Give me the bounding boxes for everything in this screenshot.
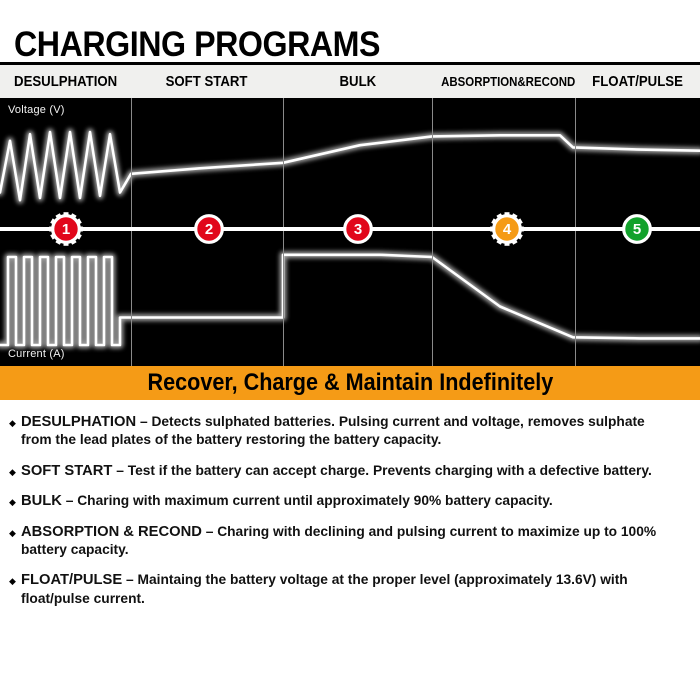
stage-label-text: DESULPHATION	[14, 65, 117, 98]
title-bar: CHARGING PROGRAMS	[0, 0, 700, 62]
bullet-term: ABSORPTION & RECOND	[21, 523, 202, 540]
charging-stage-chart: Voltage (V) Current (A) 12345	[0, 98, 700, 366]
bullet-text: DESULPHATION – Detects sulphated batteri…	[21, 412, 670, 450]
stage-description-list: ◆DESULPHATION – Detects sulphated batter…	[0, 400, 700, 608]
bullet-dot-icon: ◆	[8, 577, 17, 586]
bullet-item-1: ◆SOFT START – Test if the battery can ac…	[8, 461, 690, 480]
bullet-term: SOFT START	[21, 462, 112, 479]
stage-label-text: ABSORPTION&RECOND	[441, 65, 575, 98]
bullet-dot-icon: ◆	[8, 529, 17, 538]
badge-shape-icon	[620, 212, 654, 246]
stage-header-band: DESULPHATIONSOFT STARTBULKABSORPTION&REC…	[0, 62, 700, 98]
stage-divider-0	[131, 98, 132, 366]
voltage-axis-label: Voltage (V)	[8, 104, 65, 116]
page-title: CHARGING PROGRAMS	[14, 27, 645, 62]
bullet-text: FLOAT/PULSE – Maintaing the battery volt…	[21, 570, 670, 608]
bullet-term: BULK	[21, 492, 62, 509]
tagline-banner: Recover, Charge & Maintain Indefinitely	[0, 366, 700, 400]
bullet-item-0: ◆DESULPHATION – Detects sulphated batter…	[8, 412, 690, 450]
bullet-item-4: ◆FLOAT/PULSE – Maintaing the battery vol…	[8, 570, 690, 608]
tagline-text: Recover, Charge & Maintain Indefinitely	[147, 369, 553, 397]
stage-label-text: SOFT START	[166, 65, 248, 98]
stage-divider-3	[575, 98, 576, 366]
bullet-description: – Test if the battery can accept charge.…	[112, 463, 651, 479]
stage-divider-1	[283, 98, 284, 366]
bullet-dot-icon: ◆	[8, 468, 17, 477]
bullet-text: SOFT START – Test if the battery can acc…	[21, 461, 670, 480]
stage-badge-5[interactable]: 5	[620, 212, 654, 246]
stage-label-2: BULK	[283, 65, 432, 98]
stage-label-3: ABSORPTION&RECOND	[432, 65, 575, 98]
badge-shape-icon	[341, 212, 375, 246]
bullet-description: – Charing with maximum current until app…	[62, 493, 553, 509]
badge-shape-icon	[192, 212, 226, 246]
bullet-text: ABSORPTION & RECOND – Charing with decli…	[21, 522, 670, 560]
stage-label-4: FLOAT/PULSE	[575, 65, 700, 98]
stage-badge-4[interactable]: 4	[490, 212, 524, 246]
stage-label-0: DESULPHATION	[0, 65, 131, 98]
stage-label-1: SOFT START	[131, 65, 283, 98]
stage-divider-2	[432, 98, 433, 366]
bullet-item-3: ◆ABSORPTION & RECOND – Charing with decl…	[8, 522, 690, 560]
bullet-term: DESULPHATION	[21, 413, 136, 430]
current-axis-label: Current (A)	[8, 348, 65, 360]
badge-shape-icon	[490, 212, 524, 246]
stage-badge-3[interactable]: 3	[341, 212, 375, 246]
bullet-term: FLOAT/PULSE	[21, 571, 122, 588]
badge-shape-icon	[49, 212, 83, 246]
bullet-dot-icon: ◆	[8, 498, 17, 507]
bullet-dot-icon: ◆	[8, 419, 17, 428]
stage-label-text: BULK	[339, 65, 376, 98]
current-trace	[0, 255, 700, 345]
stage-badge-1[interactable]: 1	[49, 212, 83, 246]
stage-badge-2[interactable]: 2	[192, 212, 226, 246]
bullet-item-2: ◆BULK – Charing with maximum current unt…	[8, 491, 690, 510]
bullet-text: BULK – Charing with maximum current unti…	[21, 491, 670, 510]
voltage-trace	[0, 132, 700, 200]
stage-label-text: FLOAT/PULSE	[592, 65, 683, 98]
